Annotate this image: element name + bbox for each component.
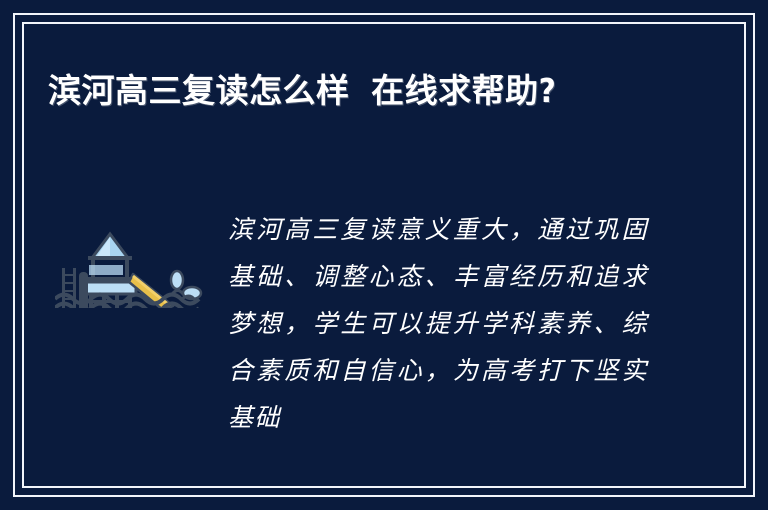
water-slide-playground-icon <box>55 196 205 308</box>
page-title: 滨河高三复读怎么样 在线求帮助? <box>48 66 688 116</box>
body-paragraph: 滨河高三复读意义重大，通过巩固基础、调整心态、丰富经历和追求梦想，学生可以提升学… <box>228 206 648 441</box>
poster-card: 滨河高三复读怎么样 在线求帮助? <box>0 0 768 510</box>
